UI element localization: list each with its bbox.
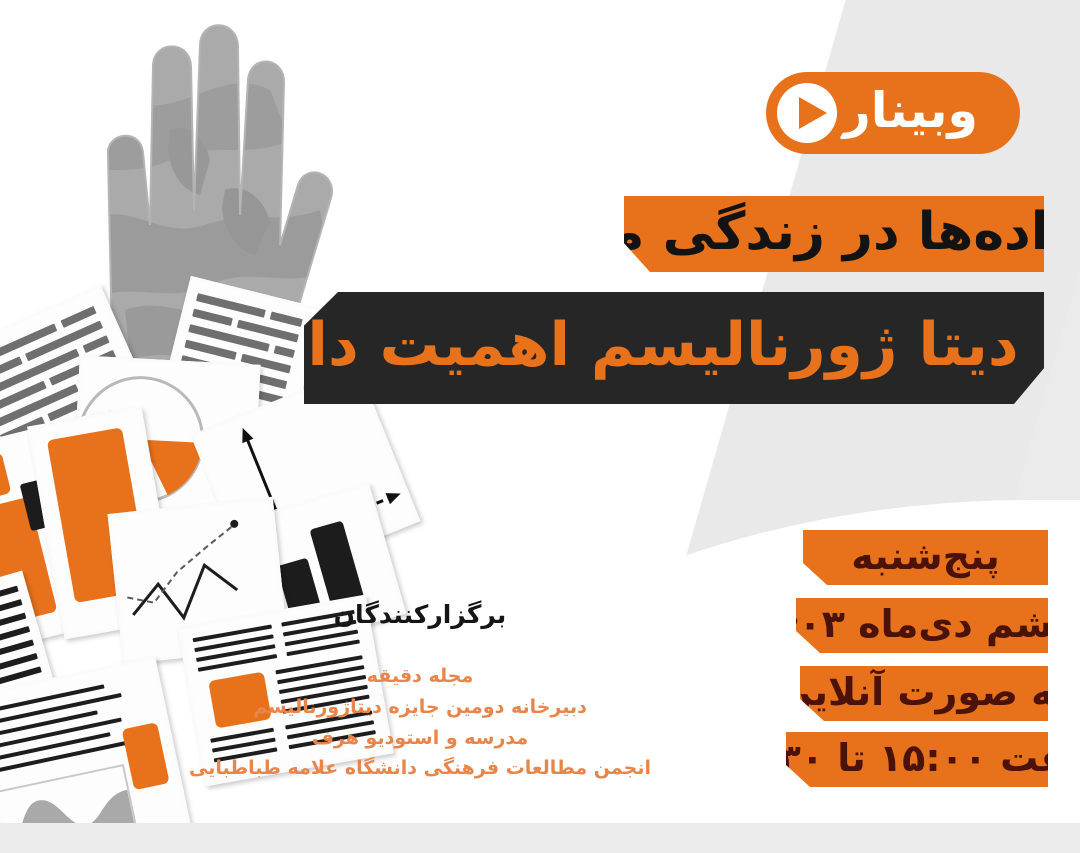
event-info-mode: به صورت آنلاین [800, 666, 1048, 721]
play-circle-icon [762, 68, 852, 158]
headline-line-1: داده‌ها در زندگی ما [624, 196, 1044, 272]
webinar-poster: وبینار داده‌ها در زندگی ما چرا دیتا ژورن… [0, 0, 1080, 853]
event-info-date: ششم دی‌ماه ۱۴۰۳ [796, 598, 1048, 653]
event-info-time: ساعت ۱۵:۰۰ تا ۱۶:۳۰ [786, 732, 1048, 787]
organizer-item-3: مدرسه و استودیو هرف [60, 723, 780, 754]
webinar-badge: وبینار [770, 72, 1020, 154]
event-info-day: پنج‌شنبه [803, 530, 1048, 585]
headline-line-2: چرا دیتا ژورنالیسم اهمیت دارد؟ [304, 292, 1044, 404]
organizer-item-4: انجمن مطالعات فرهنگی دانشگاه علامه طباطب… [60, 753, 780, 784]
organizer-item-1: مجله دقیقه [60, 661, 780, 692]
bottom-grey-strip [0, 823, 1080, 853]
webinar-badge-label: وبینار [843, 86, 978, 135]
organizer-item-2: دبیرخانه دومین جایزه دیتاژورنالیسم [60, 692, 780, 723]
organizers-block: برگزارکنندگان مجله دقیقه دبیرخانه دومین … [60, 600, 780, 784]
organizers-heading: برگزارکنندگان [60, 600, 780, 629]
